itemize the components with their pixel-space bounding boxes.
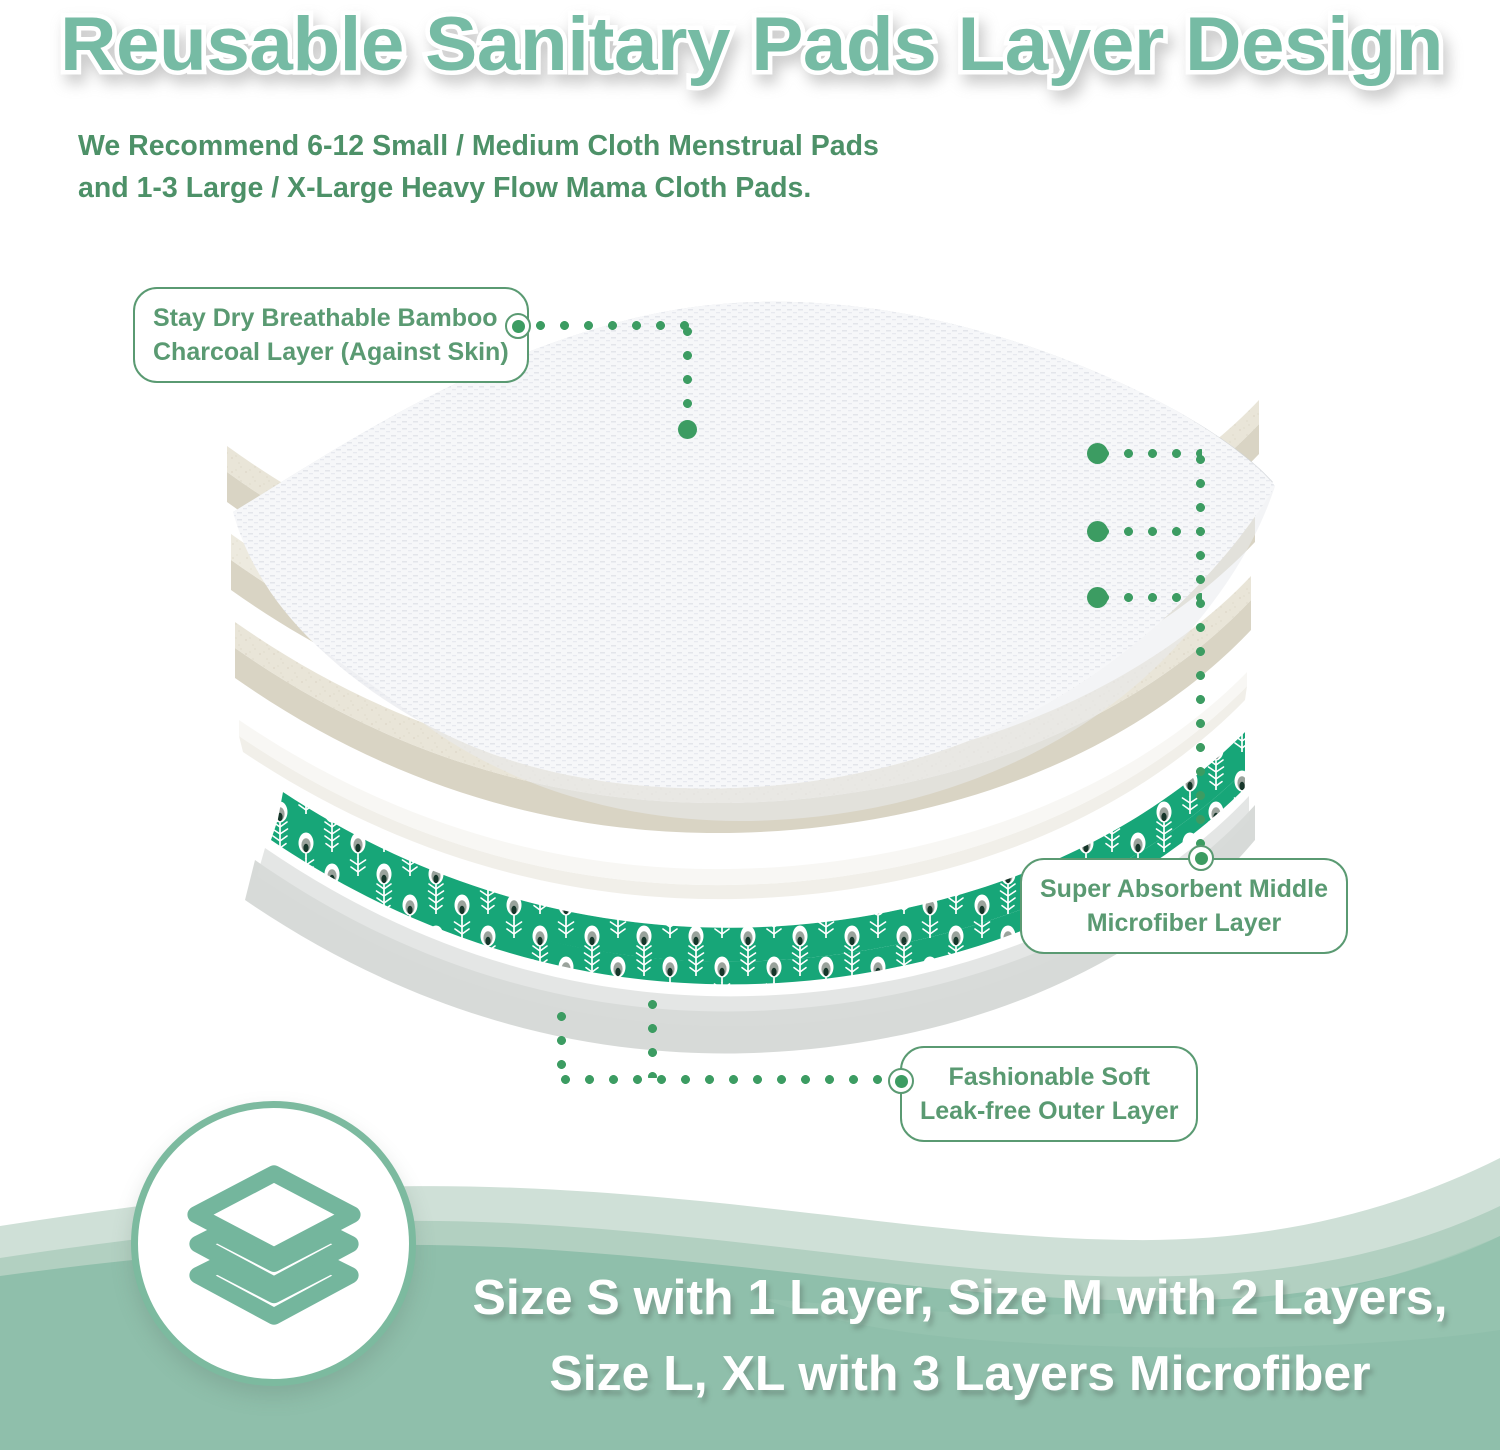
layers-badge	[131, 1101, 416, 1386]
callout-top-line-2: Charcoal Layer (Against Skin)	[153, 335, 509, 369]
connector-mid-endpoint-2	[1087, 521, 1108, 542]
callout-super-absorbent-layer[interactable]: Super Absorbent Middle Microfiber Layer	[1020, 858, 1348, 954]
page-title-text: Reusable Sanitary Pads Layer Design	[60, 2, 1440, 88]
subtitle-line-1: We Recommend 6-12 Small / Medium Cloth M…	[78, 125, 1178, 167]
connector-mid-trunk	[1196, 455, 1205, 855]
connector-mid-branch-1	[1100, 449, 1202, 458]
anchor-middle-callout	[1188, 845, 1214, 871]
banner-line-1: Size S with 1 Layer, Size M with 2 Layer…	[430, 1260, 1491, 1336]
anchor-top-callout	[505, 313, 531, 339]
callout-bottom-line-2: Leak-free Outer Layer	[920, 1094, 1178, 1128]
callout-leak-free-outer-layer[interactable]: Fashionable Soft Leak-free Outer Layer	[900, 1046, 1198, 1142]
callout-middle-line-1: Super Absorbent Middle	[1040, 872, 1328, 906]
infographic-root: Reusable Sanitary Pads Layer Design We R…	[0, 0, 1500, 1450]
connector-mid-branch-3	[1100, 593, 1202, 602]
subtitle-line-2: and 1-3 Large / X-Large Heavy Flow Mama …	[78, 167, 1178, 209]
callout-top-line-1: Stay Dry Breathable Bamboo	[153, 301, 509, 335]
callout-bottom-line-1: Fashionable Soft	[920, 1060, 1178, 1094]
banner-line-2: Size L, XL with 3 Layers Microfiber	[430, 1336, 1491, 1412]
page-title: Reusable Sanitary Pads Layer Design	[60, 2, 1400, 92]
callout-bamboo-charcoal-layer[interactable]: Stay Dry Breathable Bamboo Charcoal Laye…	[133, 287, 529, 383]
connector-bottom-horizontal	[561, 1075, 901, 1084]
connector-mid-endpoint-3	[1087, 587, 1108, 608]
connector-top-horizontal	[536, 321, 696, 330]
banner-text-block: Size S with 1 Layer, Size M with 2 Layer…	[440, 1260, 1480, 1412]
connector-top-vertical	[683, 327, 692, 425]
subtitle-block: We Recommend 6-12 Small / Medium Cloth M…	[78, 125, 1178, 209]
connector-bottom-stem-left	[557, 1012, 566, 1078]
anchor-bottom-callout	[888, 1068, 914, 1094]
layers-stack-icon	[176, 1154, 372, 1334]
callout-middle-line-2: Microfiber Layer	[1040, 906, 1328, 940]
connector-bottom-stem-right	[648, 1000, 657, 1078]
connector-top-endpoint	[678, 420, 697, 439]
connector-mid-endpoint-1	[1087, 443, 1108, 464]
connector-mid-branch-2	[1100, 527, 1202, 536]
